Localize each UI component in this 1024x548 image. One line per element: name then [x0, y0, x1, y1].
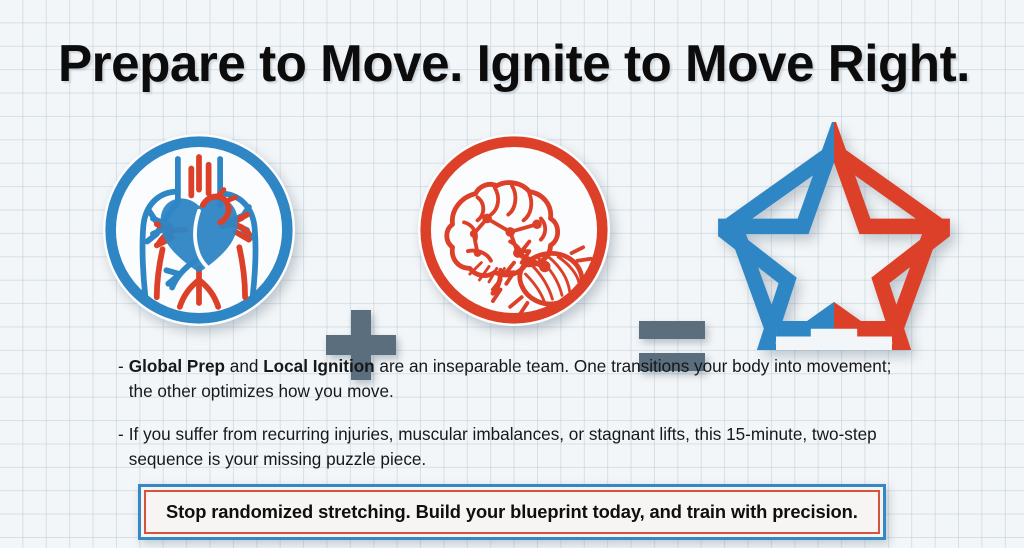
bold-term-global-prep: Global Prep — [129, 356, 225, 376]
star-shield-emblem — [718, 122, 950, 350]
callout-inner-frame: Stop randomized stretching. Build your b… — [144, 490, 880, 534]
bullet-item-2: - If you suffer from recurring injuries,… — [118, 422, 902, 472]
bullet-conjunction: and — [225, 356, 263, 376]
brain-muscle-icon — [418, 134, 610, 326]
infographic-poster: Prepare to Move. Ignite to Move Right. — [0, 0, 1024, 548]
bullet-item-1: - Global Prep and Local Ignition are an … — [118, 354, 902, 404]
callout-text: Stop randomized stretching. Build your b… — [166, 501, 858, 523]
icon-equation-row — [0, 122, 1024, 334]
bold-term-local-ignition: Local Ignition — [263, 356, 374, 376]
bullet-list: - Global Prep and Local Ignition are an … — [118, 354, 918, 490]
bullet-text-2: If you suffer from recurring injuries, m… — [129, 422, 902, 472]
bullet-text-1: Global Prep and Local Ignition are an in… — [129, 354, 902, 404]
callout-banner: Stop randomized stretching. Build your b… — [138, 484, 886, 540]
bullet-dash: - — [118, 354, 129, 379]
circulatory-system-icon — [103, 134, 295, 326]
bullet-dash: - — [118, 422, 129, 447]
page-title: Prepare to Move. Ignite to Move Right. — [58, 36, 964, 92]
